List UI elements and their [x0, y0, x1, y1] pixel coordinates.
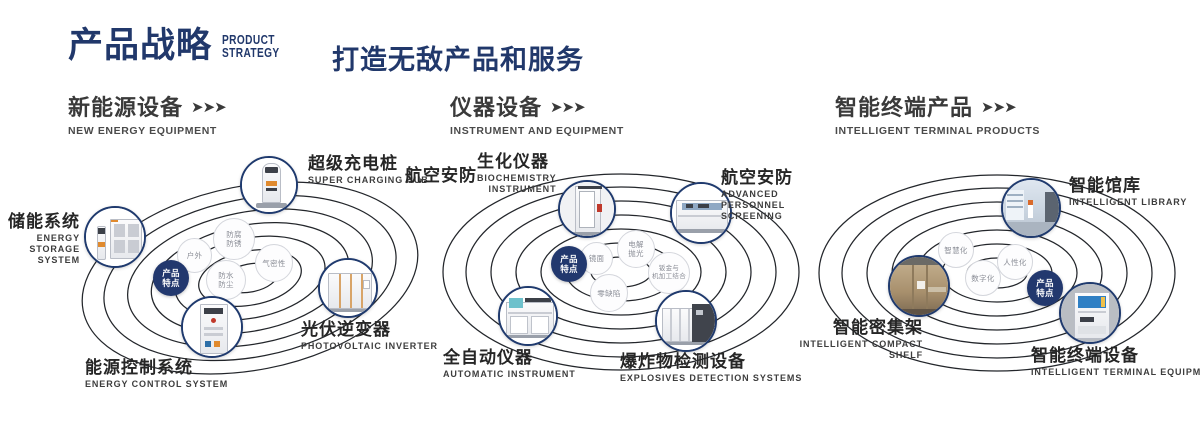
node-photovoltaic-inverter[interactable] — [318, 258, 378, 318]
chevron-right-icons: ➤➤➤ — [550, 96, 585, 120]
node-label-intelligent-library: 智能馆库 INTELLIGENT LIBRARY — [1069, 176, 1187, 208]
terminal-equipment-illustration — [1061, 284, 1119, 342]
section-header-instrument: 仪器设备➤➤➤ INSTRUMENT AND EQUIPMENT — [450, 96, 624, 137]
feature-bubble: 人性化 — [997, 244, 1033, 280]
feature-bubble: 气密性 — [255, 244, 293, 282]
node-label-photovoltaic-inverter: 光伏逆变器 PHOTOVOLTAIC INVERTER — [301, 320, 438, 352]
node-label-intelligent-terminal-equipment: 智能终端设备 INTELLIGENT TERMINAL EQUIPMENT — [1031, 346, 1200, 378]
node-automatic-instrument[interactable] — [498, 286, 558, 346]
section-title-en: INSTRUMENT AND EQUIPMENT — [450, 125, 624, 137]
explosives-detection-illustration — [657, 292, 715, 350]
cluster-instrument: 镜面 电解 抛光 零缺陷 钣金与 机加工结合 产品特点 航空安防 生化仪器 BI… — [425, 150, 825, 405]
section-header-new-energy: 新能源设备➤➤➤ NEW ENERGY EQUIPMENT — [68, 96, 226, 137]
node-biochemistry-instrument[interactable] — [558, 180, 616, 238]
node-intelligent-terminal-equipment[interactable] — [1059, 282, 1121, 344]
section-title-cn: 智能终端产品 — [835, 95, 973, 120]
core-bubble-product-features: 产品特点 — [551, 246, 587, 282]
feature-bubble: 防水 防尘 — [206, 260, 246, 300]
node-super-charging-hub[interactable] — [240, 156, 298, 214]
inverter-illustration — [320, 260, 376, 316]
node-label-intelligent-compact-shelf: 智能密集架 INTELLIGENT COMPACT SHELF — [763, 318, 923, 361]
node-energy-storage-system[interactable] — [84, 206, 146, 268]
node-energy-control-system[interactable] — [181, 296, 243, 358]
chevron-right-icons: ➤➤➤ — [981, 96, 1016, 120]
charging-hub-illustration — [242, 158, 296, 212]
node-label-biochemistry-instrument: 生化仪器 BIOCHEMISTRY INSTRUMENT — [477, 152, 556, 195]
page-title: 产品战略 — [68, 28, 212, 63]
cluster-new-energy: 户外 防腐 防锈 防水 防尘 气密性 产品特点 储能系统 ENERGY STOR… — [50, 150, 450, 405]
node-label-automatic-instrument: 全自动仪器 AUTOMATIC INSTRUMENT — [443, 348, 576, 380]
core-bubble-product-features: 产品特点 — [1027, 270, 1063, 306]
intelligent-library-illustration — [1003, 180, 1059, 236]
energy-storage-illustration — [86, 208, 144, 266]
section-title-en: NEW ENERGY EQUIPMENT — [68, 125, 226, 137]
control-system-illustration — [183, 298, 241, 356]
section-header-intelligent-terminal: 智能终端产品➤➤➤ INTELLIGENT TERMINAL PRODUCTS — [835, 96, 1040, 137]
feature-bubble: 零缺陷 — [590, 274, 628, 312]
node-label-energy-control-system: 能源控制系统 ENERGY CONTROL SYSTEM — [85, 358, 228, 390]
biochemistry-illustration — [560, 182, 614, 236]
page-title-english: PRODUCT STRATEGY — [222, 33, 280, 59]
core-bubble-product-features: 产品特点 — [153, 260, 189, 296]
feature-bubble: 电解 抛光 — [617, 230, 655, 268]
automatic-instrument-illustration — [500, 288, 556, 344]
page-subtitle: 打造无敌产品和服务 — [332, 38, 584, 77]
cluster-intelligent-terminal: 智慧化 数字化 人性化 产品特点 智能馆库 INTELLIGENT LIBRAR… — [805, 150, 1200, 405]
node-explosives-detection-systems[interactable] — [655, 290, 717, 352]
node-label-aviation-security-left: 航空安防 — [405, 166, 477, 185]
page-title-english-line2: STRATEGY — [222, 46, 280, 59]
product-strategy-infographic: 产品战略 PRODUCT STRATEGY 打造无敌产品和服务 新能源设备➤➤➤… — [0, 0, 1200, 422]
node-label-energy-storage-system: 储能系统 ENERGY STORAGE SYSTEM — [0, 212, 80, 266]
section-title-cn: 新能源设备 — [68, 95, 183, 120]
chevron-right-icons: ➤➤➤ — [191, 96, 226, 120]
section-title-en: INTELLIGENT TERMINAL PRODUCTS — [835, 125, 1040, 137]
feature-bubble: 数字化 — [965, 260, 1001, 296]
node-intelligent-library[interactable] — [1001, 178, 1061, 238]
compact-shelf-illustration — [890, 257, 948, 315]
feature-bubble: 钣金与 机加工结合 — [648, 252, 690, 294]
section-title-cn: 仪器设备 — [450, 95, 542, 120]
node-intelligent-compact-shelf[interactable] — [888, 255, 950, 317]
feature-bubble: 防腐 防锈 — [213, 218, 255, 260]
